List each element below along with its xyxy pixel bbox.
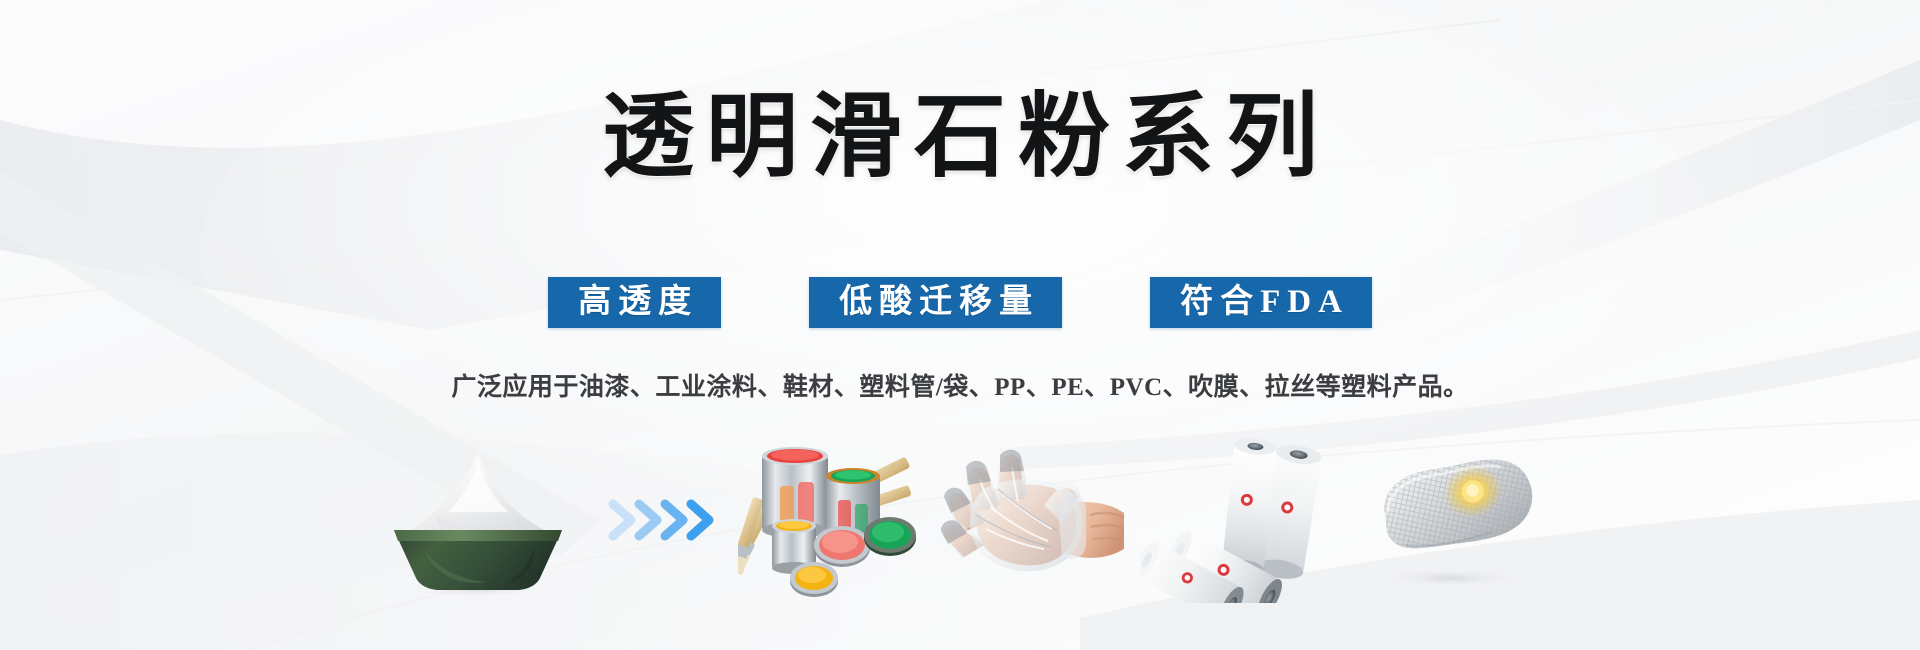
paint-cans-icon xyxy=(738,438,928,603)
pe-glove-hand-icon xyxy=(940,445,1125,595)
shoe-sole-image xyxy=(1343,435,1558,605)
talc-powder-bowl-icon xyxy=(368,438,588,603)
product-banner: 透明滑石粉系列 高透度 低酸迁移量 符合FDA 广泛应用于油漆、工业涂料、鞋材、… xyxy=(0,0,1920,650)
process-arrow-group xyxy=(593,435,733,605)
product-application-strip xyxy=(0,430,1920,610)
banner-content: 透明滑石粉系列 高透度 低酸迁移量 符合FDA 广泛应用于油漆、工业涂料、鞋材、… xyxy=(0,0,1920,650)
feature-badge-low-acid-migration[interactable]: 低酸迁移量 xyxy=(809,277,1062,328)
application-description: 广泛应用于油漆、工业涂料、鞋材、塑料管/袋、PP、PE、PVC、吹膜、拉丝等塑料… xyxy=(0,371,1920,405)
page-title: 透明滑石粉系列 xyxy=(0,78,1920,196)
plastic-film-rolls-image xyxy=(1133,435,1343,605)
pe-glove-hand-image xyxy=(933,435,1133,605)
chevron-right-arrows-icon xyxy=(603,490,723,550)
paint-cans-image xyxy=(733,435,933,605)
feature-badge-list: 高透度 低酸迁移量 符合FDA xyxy=(0,277,1920,328)
shoe-sole-icon xyxy=(1348,448,1553,593)
talc-powder-bowl-image xyxy=(363,435,593,605)
feature-badge-fda-compliant[interactable]: 符合FDA xyxy=(1150,277,1372,328)
feature-badge-high-transparency[interactable]: 高透度 xyxy=(548,277,721,328)
plastic-film-rolls-icon xyxy=(1140,438,1335,603)
